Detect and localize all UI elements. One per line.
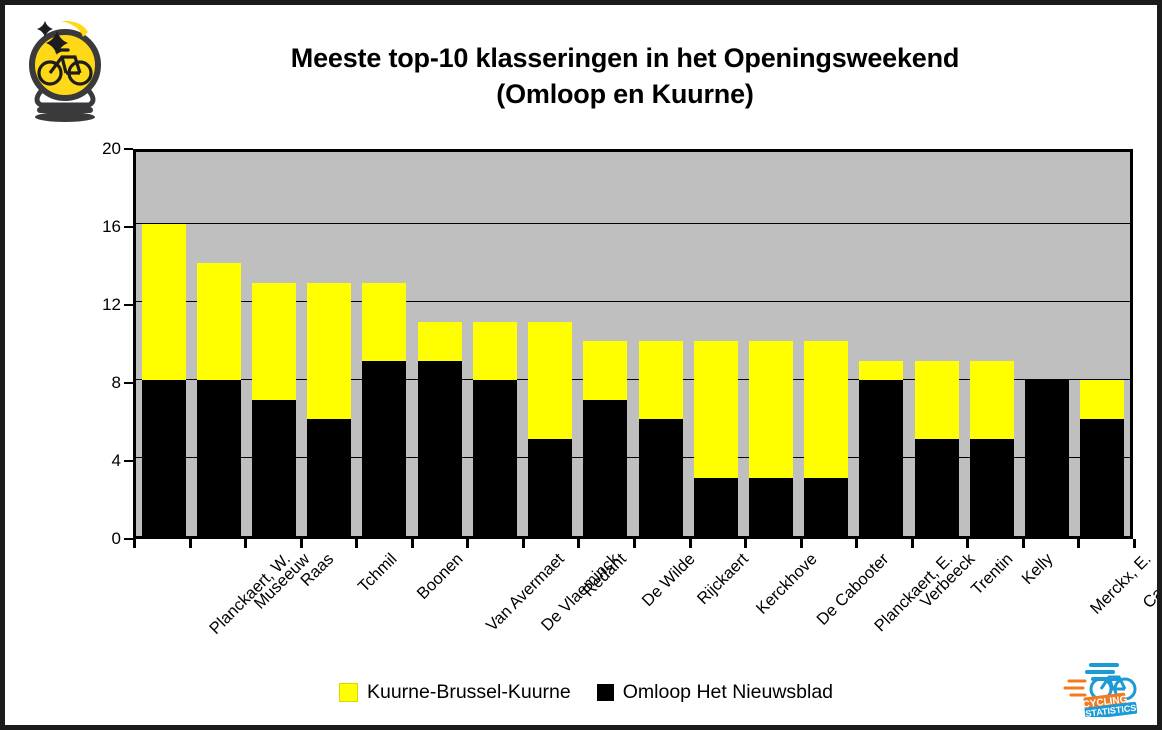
x-axis-tick-label-text: Rijckaert	[694, 550, 753, 609]
bar-group[interactable]	[909, 152, 964, 536]
bar-stack[interactable]	[804, 341, 848, 536]
bar-segment-kuurne-brussel-kuurne[interactable]	[252, 283, 296, 400]
bar-stack[interactable]	[749, 341, 793, 536]
y-axis-tick-label: 8	[112, 373, 121, 393]
bar-segment-omloop-het-nieuwsblad[interactable]	[142, 380, 186, 536]
bar-segment-kuurne-brussel-kuurne[interactable]	[362, 283, 406, 361]
legend-label: Omloop Het Nieuwsblad	[623, 681, 833, 704]
bar-group[interactable]	[854, 152, 909, 536]
bar-segment-omloop-het-nieuwsblad[interactable]	[197, 380, 241, 536]
bars-layer	[136, 152, 1130, 536]
y-axis-tick-mark	[124, 304, 133, 306]
legend: Kuurne-Brussel-KuurneOmloop Het Nieuwsbl…	[5, 681, 1162, 704]
bar-group[interactable]	[743, 152, 798, 536]
cycling-statistics-watermark: CYCLING STATISTICS	[1057, 655, 1143, 717]
bar-group[interactable]	[246, 152, 301, 536]
bar-segment-omloop-het-nieuwsblad[interactable]	[639, 419, 683, 536]
x-axis-tick-mark	[189, 539, 192, 548]
x-axis-tick-label: Tchmil	[355, 550, 402, 597]
x-axis-tick-label: Trentin	[967, 550, 1016, 599]
x-axis-tick-mark	[1022, 539, 1025, 548]
bar-group[interactable]	[357, 152, 412, 536]
y-axis-tick-label: 16	[102, 217, 121, 237]
bar-stack[interactable]	[142, 224, 186, 536]
y-axis-tick-mark	[124, 538, 133, 540]
x-axis-tick-label: De Wilde	[639, 550, 700, 611]
bar-segment-kuurne-brussel-kuurne[interactable]	[583, 341, 627, 400]
x-axis-tick-mark	[411, 539, 414, 548]
bar-group[interactable]	[191, 152, 246, 536]
bar-group[interactable]	[964, 152, 1019, 536]
bar-segment-omloop-het-nieuwsblad[interactable]	[1025, 380, 1069, 536]
bar-stack[interactable]	[1025, 380, 1069, 536]
x-axis-tick-mark	[577, 539, 580, 548]
bar-group[interactable]	[633, 152, 688, 536]
page-title: Meeste top-10 klasseringen in het Openin…	[125, 41, 1125, 112]
y-axis-tick-mark	[124, 226, 133, 228]
x-axis-tick-label: Merckx, E.	[1086, 550, 1155, 619]
bar-segment-kuurne-brussel-kuurne[interactable]	[970, 361, 1014, 439]
bar-stack[interactable]	[694, 341, 738, 536]
bar-segment-kuurne-brussel-kuurne[interactable]	[142, 224, 186, 380]
bar-segment-omloop-het-nieuwsblad[interactable]	[307, 419, 351, 536]
x-axis-tick-label-text: Trentin	[967, 550, 1016, 599]
bar-stack[interactable]	[362, 283, 406, 537]
bar-segment-kuurne-brussel-kuurne[interactable]	[307, 283, 351, 420]
bar-stack[interactable]	[915, 361, 959, 537]
bar-segment-kuurne-brussel-kuurne[interactable]	[859, 361, 903, 381]
bar-segment-omloop-het-nieuwsblad[interactable]	[970, 439, 1014, 537]
bar-stack[interactable]	[197, 263, 241, 536]
x-axis-tick-label-text: Kelly	[1019, 550, 1058, 589]
bar-segment-omloop-het-nieuwsblad[interactable]	[583, 400, 627, 537]
x-axis-tick-mark	[1077, 539, 1080, 548]
bar-segment-omloop-het-nieuwsblad[interactable]	[804, 478, 848, 537]
x-axis-tick-mark	[689, 539, 692, 548]
x-axis-tick-mark	[744, 539, 747, 548]
bar-segment-omloop-het-nieuwsblad[interactable]	[859, 380, 903, 536]
y-axis: 048121620	[65, 149, 133, 539]
legend-label: Kuurne-Brussel-Kuurne	[367, 681, 571, 704]
x-axis-tick-label-text: De Wilde	[639, 550, 700, 611]
chart-page: Meeste top-10 klasseringen in het Openin…	[0, 0, 1162, 730]
bar-group[interactable]	[1020, 152, 1075, 536]
bar-segment-kuurne-brussel-kuurne[interactable]	[418, 322, 462, 361]
x-axis-tick-mark	[966, 539, 969, 548]
x-axis-ticks	[133, 539, 1133, 548]
crystal-ball-bicycle-logo	[17, 13, 107, 125]
x-axis-tick-mark	[1133, 539, 1136, 548]
bar-stack[interactable]	[418, 322, 462, 537]
y-axis-tick-label: 0	[112, 529, 121, 549]
y-axis-tick-mark	[124, 460, 133, 462]
bar-segment-omloop-het-nieuwsblad[interactable]	[418, 361, 462, 537]
bar-group[interactable]	[136, 152, 191, 536]
bar-group[interactable]	[1075, 152, 1130, 536]
bar-group[interactable]	[688, 152, 743, 536]
x-axis-tick-mark	[355, 539, 358, 548]
x-axis-labels: Planckaert, W.MuseeuwRaasTchmilBoonenVan…	[133, 548, 1133, 678]
x-axis-tick-mark	[800, 539, 803, 548]
bar-segment-omloop-het-nieuwsblad[interactable]	[915, 439, 959, 537]
legend-swatch	[339, 683, 358, 702]
x-axis-tick-label-text: Kerckhove	[753, 550, 822, 619]
bar-stack[interactable]	[473, 322, 517, 537]
bar-segment-kuurne-brussel-kuurne[interactable]	[639, 341, 683, 419]
title-line-2: (Omloop en Kuurne)	[125, 77, 1125, 113]
y-axis-tick-label: 4	[112, 451, 121, 471]
bar-group[interactable]	[799, 152, 854, 536]
bar-segment-omloop-het-nieuwsblad[interactable]	[528, 439, 572, 537]
x-axis-tick-mark	[133, 539, 136, 548]
bar-segment-kuurne-brussel-kuurne[interactable]	[1080, 380, 1124, 419]
x-axis-tick-label: Boonen	[414, 550, 468, 604]
bar-segment-omloop-het-nieuwsblad[interactable]	[694, 478, 738, 537]
x-axis-tick-label-text: Merckx, E.	[1086, 550, 1155, 619]
y-axis-tick-mark	[124, 382, 133, 384]
bar-group[interactable]	[578, 152, 633, 536]
bar-segment-omloop-het-nieuwsblad[interactable]	[749, 478, 793, 537]
bar-stack[interactable]	[528, 322, 572, 537]
x-axis-tick-label: Rijckaert	[694, 550, 753, 609]
plot-area	[133, 149, 1133, 539]
bar-group[interactable]	[523, 152, 578, 536]
x-axis-tick-label-text: Tchmil	[355, 550, 402, 597]
x-axis-tick-mark	[300, 539, 303, 548]
bar-segment-kuurne-brussel-kuurne[interactable]	[804, 341, 848, 478]
bar-group[interactable]	[302, 152, 357, 536]
bar-stack[interactable]	[859, 361, 903, 537]
bar-segment-omloop-het-nieuwsblad[interactable]	[473, 380, 517, 536]
x-axis-tick-mark	[633, 539, 636, 548]
bar-stack[interactable]	[970, 361, 1014, 537]
bar-stack[interactable]	[1080, 380, 1124, 536]
bar-segment-omloop-het-nieuwsblad[interactable]	[362, 361, 406, 537]
y-axis-tick-label: 12	[102, 295, 121, 315]
legend-item[interactable]: Kuurne-Brussel-Kuurne	[339, 681, 571, 704]
bar-segment-omloop-het-nieuwsblad[interactable]	[1080, 419, 1124, 536]
bar-stack[interactable]	[639, 341, 683, 536]
legend-item[interactable]: Omloop Het Nieuwsblad	[597, 681, 833, 704]
bar-segment-kuurne-brussel-kuurne[interactable]	[749, 341, 793, 478]
bar-segment-kuurne-brussel-kuurne[interactable]	[197, 263, 241, 380]
x-axis-tick-mark	[911, 539, 914, 548]
y-axis-tick-mark	[124, 148, 133, 150]
bar-group[interactable]	[412, 152, 467, 536]
x-axis-tick-label: Kerckhove	[753, 550, 822, 619]
title-line-1: Meeste top-10 klasseringen in het Openin…	[125, 41, 1125, 77]
bar-segment-omloop-het-nieuwsblad[interactable]	[252, 400, 296, 537]
legend-swatch	[597, 684, 614, 701]
bar-segment-kuurne-brussel-kuurne[interactable]	[694, 341, 738, 478]
bar-stack[interactable]	[583, 341, 627, 536]
x-axis-tick-mark	[244, 539, 247, 548]
bar-stack[interactable]	[307, 283, 351, 537]
bar-stack[interactable]	[252, 283, 296, 537]
x-axis-tick-label-text: Boonen	[414, 550, 468, 604]
y-axis-tick-label: 20	[102, 139, 121, 159]
bar-segment-kuurne-brussel-kuurne[interactable]	[473, 322, 517, 381]
x-axis-tick-mark	[855, 539, 858, 548]
bar-segment-kuurne-brussel-kuurne[interactable]	[528, 322, 572, 439]
bar-segment-kuurne-brussel-kuurne[interactable]	[915, 361, 959, 439]
bar-group[interactable]	[467, 152, 522, 536]
x-axis-tick-mark	[466, 539, 469, 548]
x-axis-tick-mark	[522, 539, 525, 548]
x-axis-tick-label: Kelly	[1019, 550, 1058, 589]
